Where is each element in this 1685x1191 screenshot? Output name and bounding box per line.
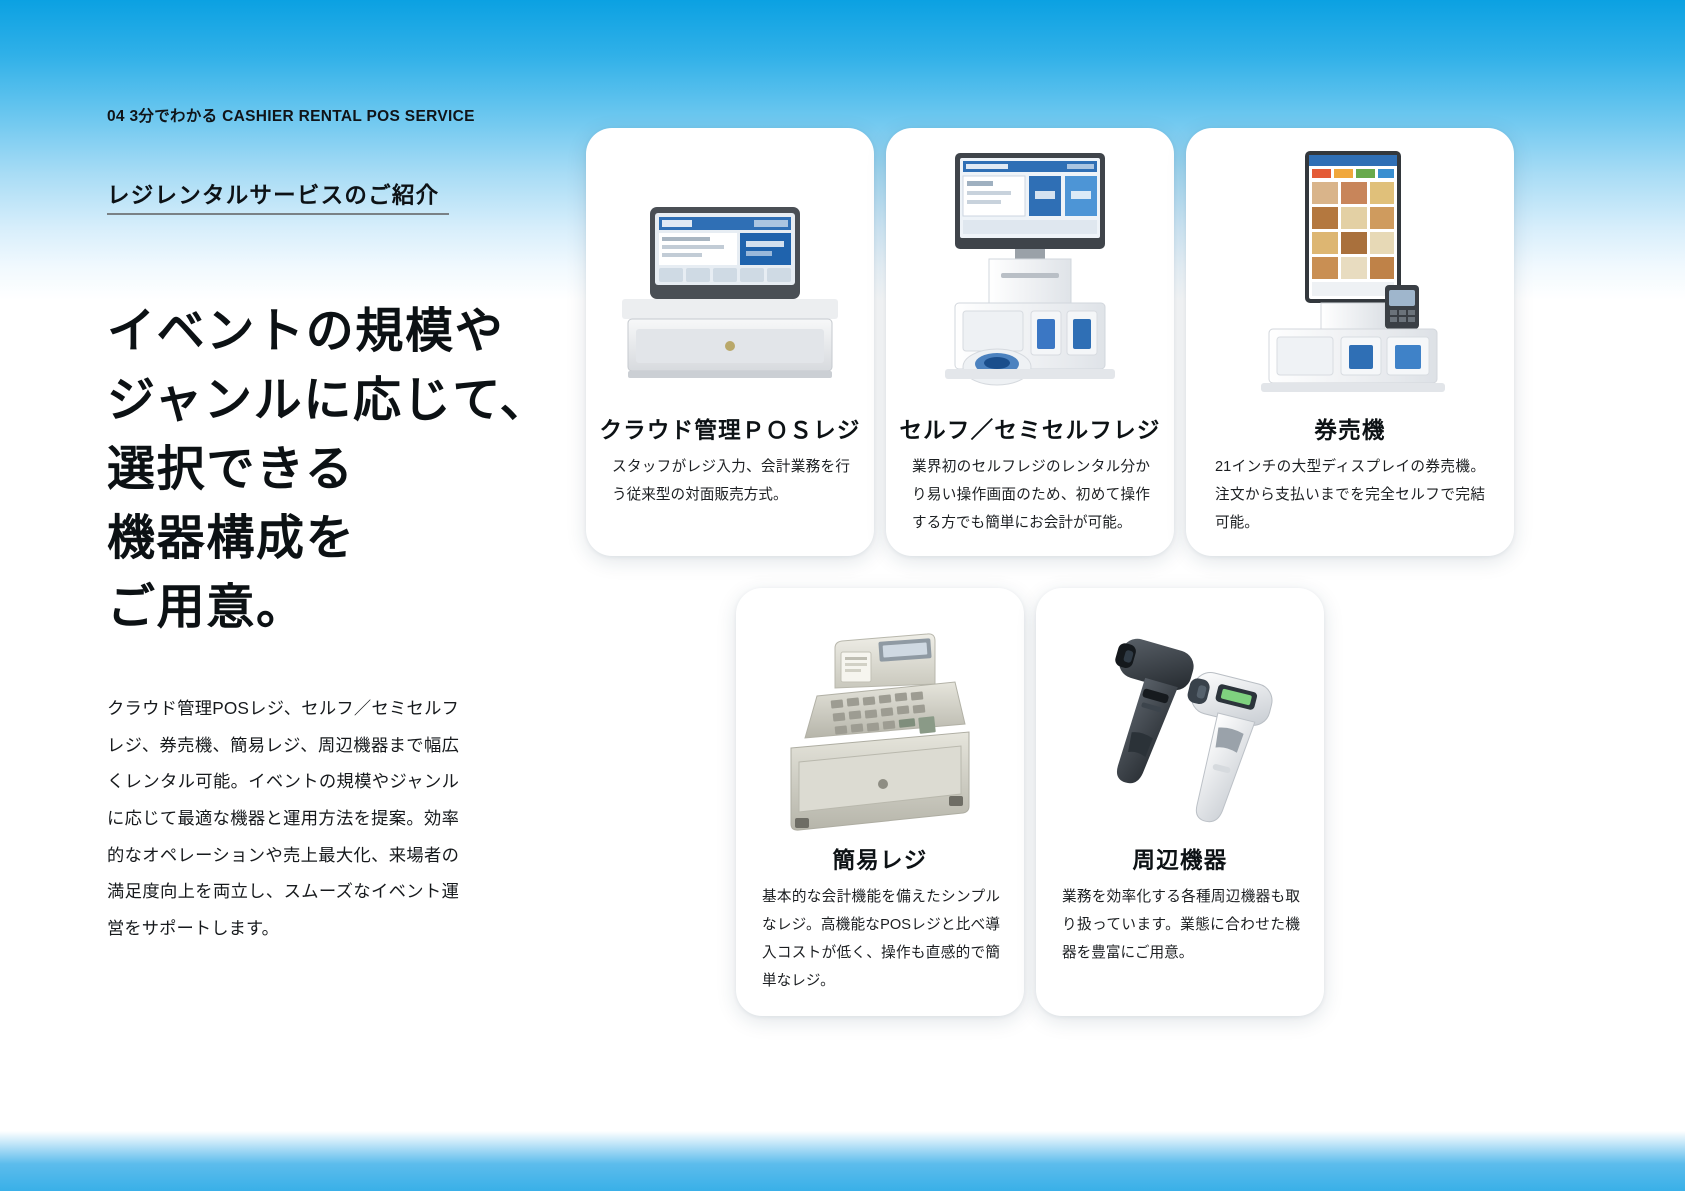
card-title: 簡易レジ: [736, 843, 1024, 875]
card-description: 基本的な会計機能を備えたシンプルなレジ。高機能なPOSレジと比べ導入コストが低く…: [762, 883, 1000, 995]
simple-cash-register-photo: [736, 626, 1024, 856]
product-card-peripherals[interactable]: 周辺機器 業務を効率化する各種周辺機器も取り扱っています。業態に合わせた機器を豊…: [1036, 588, 1324, 1016]
product-card-simple-register[interactable]: 簡易レジ 基本的な会計機能を備えたシンプルなレジ。高機能なPOSレジと比べ導入コ…: [736, 588, 1024, 1016]
hero-headline: イベントの規模や ジャンルに応じて、 選択できる 機器構成を ご用意。: [107, 297, 549, 643]
card-description: 業務を効率化する各種周辺機器も取り扱っています。業態に合わせた機器を豊富にご用意…: [1062, 883, 1300, 967]
hero-lead-paragraph: クラウド管理POSレジ、セルフ／セミセルフレジ、券売機、簡易レジ、周辺機器まで幅…: [107, 690, 459, 947]
card-title: クラウド管理ＰＯＳレジ: [586, 413, 874, 445]
ticket-vending-machine-photo: [1186, 146, 1514, 398]
card-description: 21インチの大型ディスプレイの券売機。注文から支払いまでを完全セルフで完結可能。: [1215, 453, 1485, 537]
card-description: 業界初のセルフレジのレンタル分かり易い操作画面のため、初めて操作する方でも簡単に…: [912, 453, 1150, 537]
title-underline: [107, 213, 449, 215]
card-title: 券売機: [1186, 413, 1514, 445]
card-title: セルフ／セミセルフレジ: [886, 413, 1174, 445]
cloud-pos-register-photo: [586, 190, 874, 400]
bottom-gradient-band: [0, 1131, 1685, 1191]
product-card-ticket-machine[interactable]: 券売機 21インチの大型ディスプレイの券売機。注文から支払いまでを完全セルフで完…: [1186, 128, 1514, 556]
barcode-scanner-photo: [1036, 630, 1324, 852]
self-checkout-kiosk-photo: [886, 148, 1174, 398]
product-card-cloud-pos[interactable]: クラウド管理ＰＯＳレジ スタッフがレジ入力、会計業務を行う従来型の対面販売方式。: [586, 128, 874, 556]
eyebrow-label: 04 3分でわかる CASHIER RENTAL POS SERVICE: [107, 104, 475, 126]
page-title: レジレンタルサービスのご紹介: [107, 178, 439, 210]
card-description: スタッフがレジ入力、会計業務を行う従来型の対面販売方式。: [612, 453, 850, 509]
product-card-self-semi-self[interactable]: セルフ／セミセルフレジ 業界初のセルフレジのレンタル分かり易い操作画面のため、初…: [886, 128, 1174, 556]
slide-page: 04 3分でわかる CASHIER RENTAL POS SERVICE レジレ…: [0, 0, 1685, 1191]
card-title: 周辺機器: [1036, 843, 1324, 875]
